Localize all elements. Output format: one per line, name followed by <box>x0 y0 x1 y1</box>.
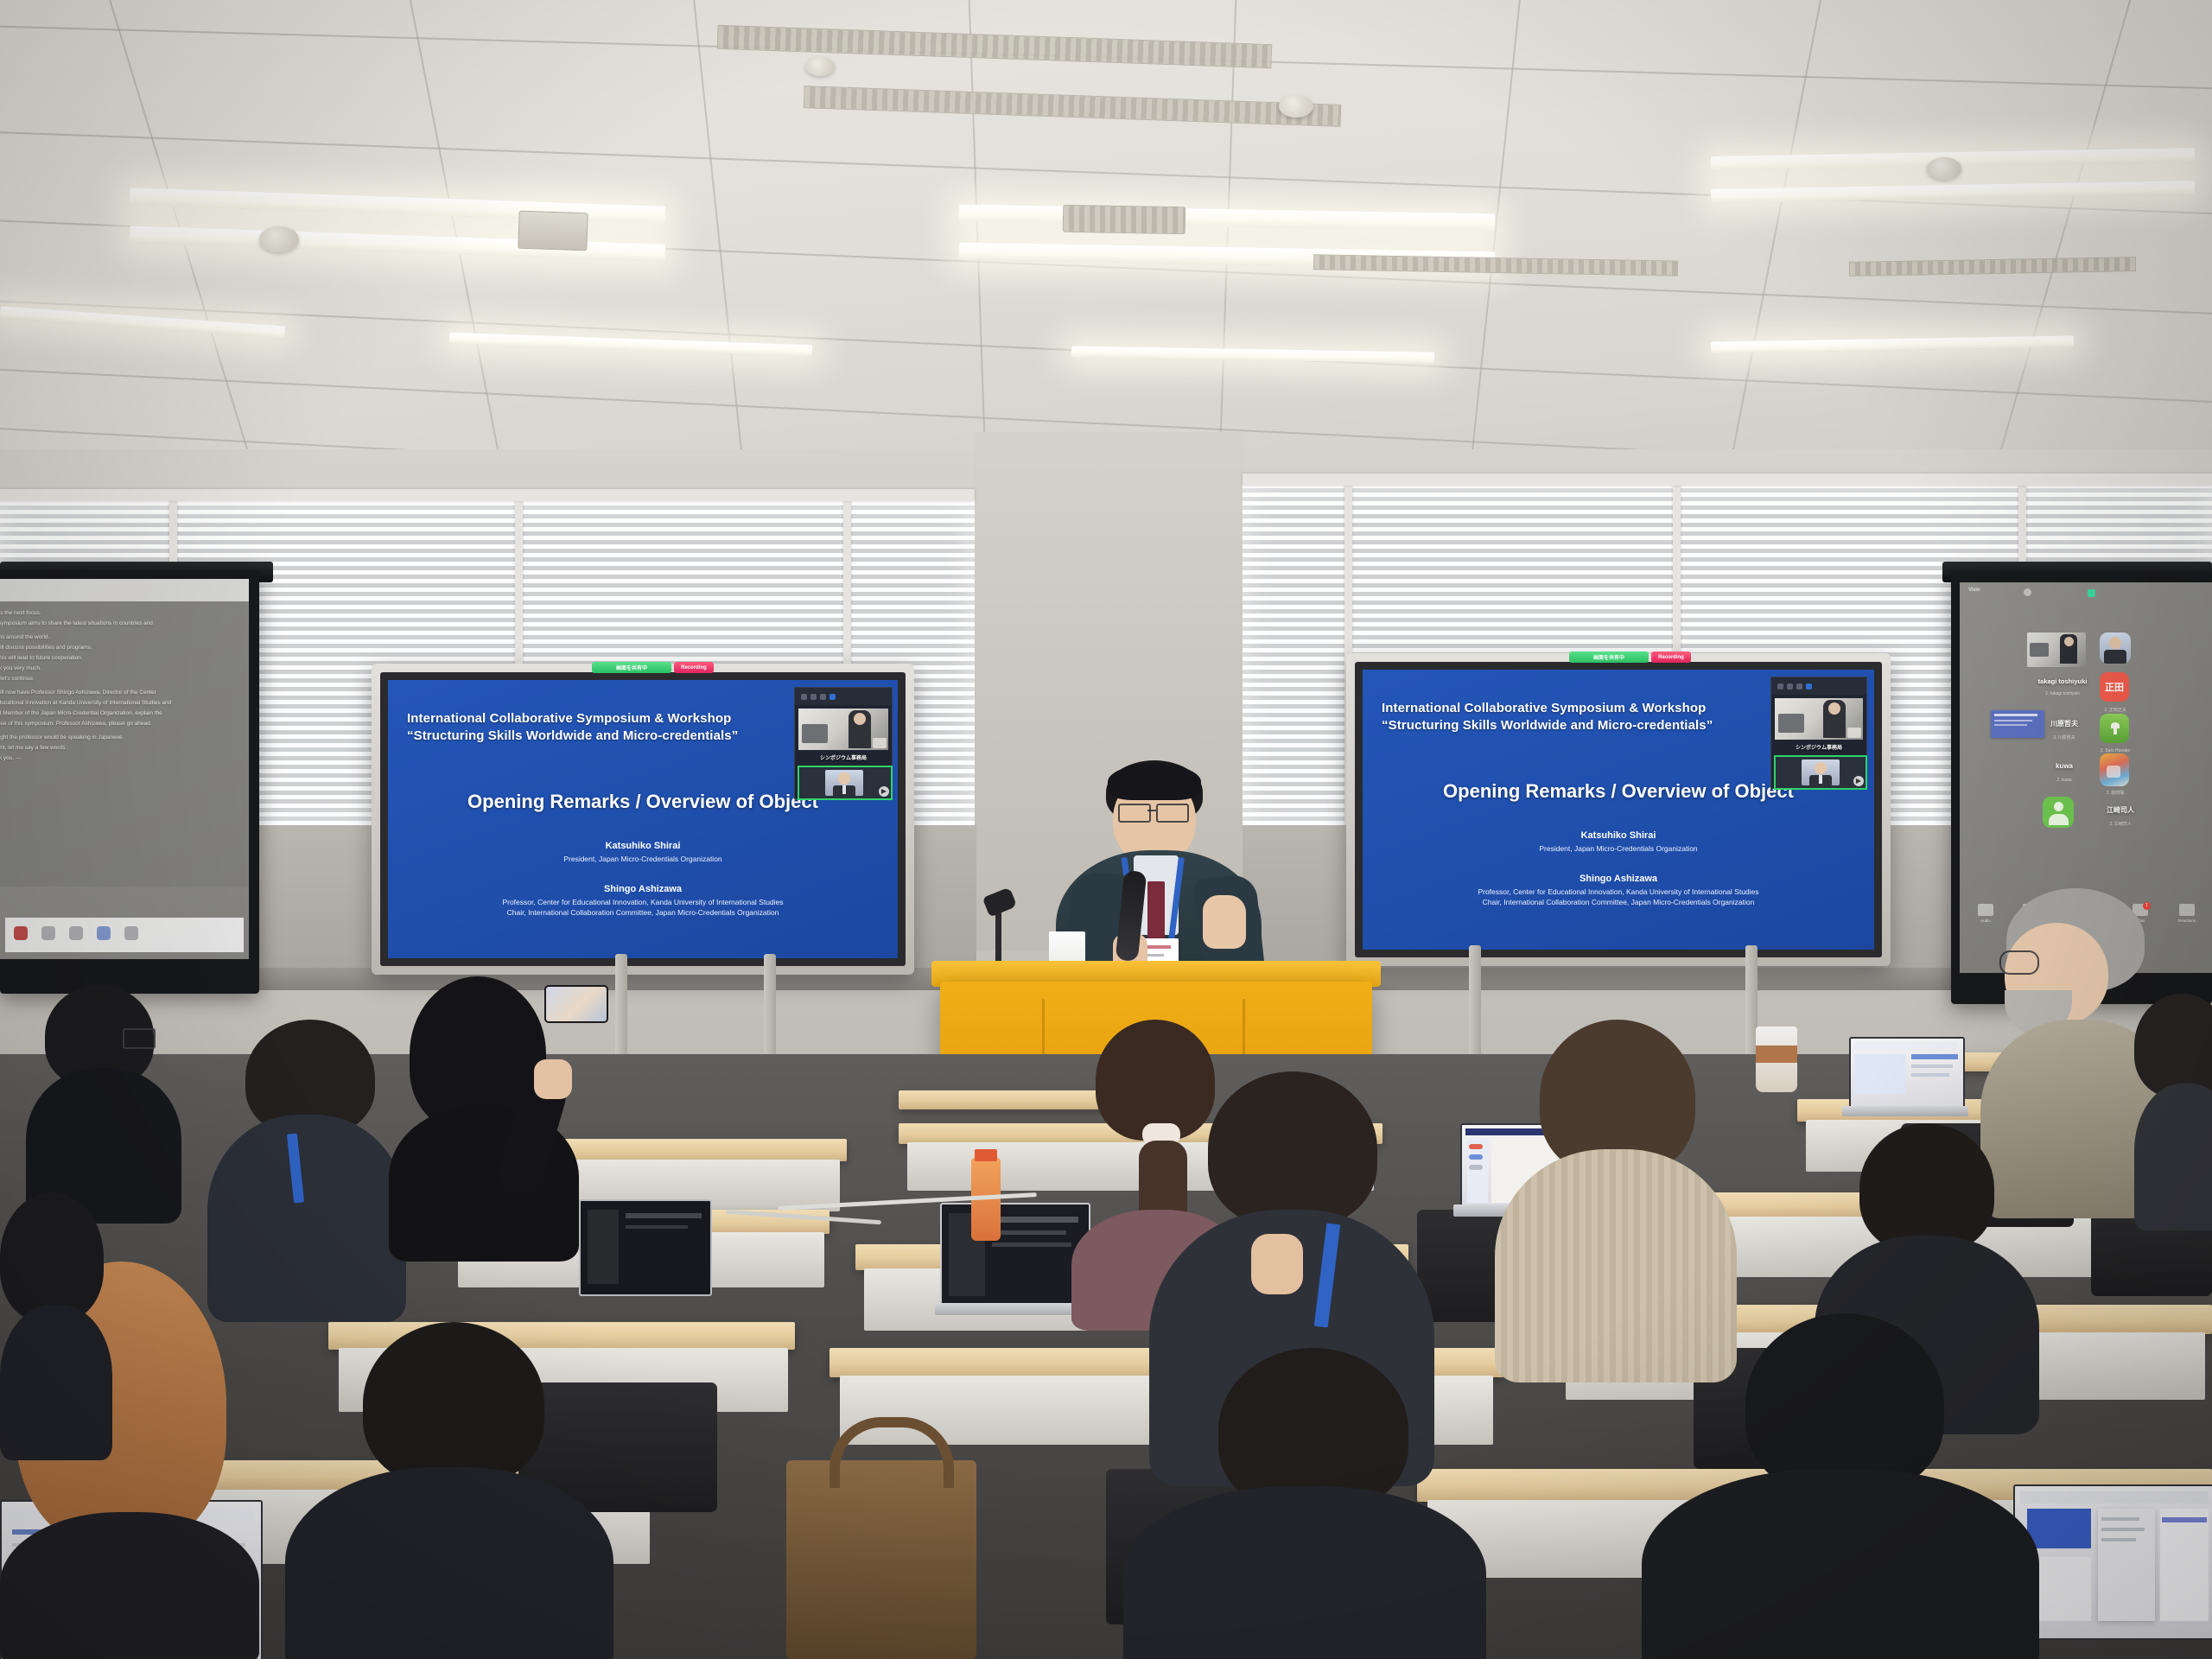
video-tile-room[interactable] <box>1775 698 1863 740</box>
hair <box>1859 1123 1994 1253</box>
torso <box>1123 1486 1486 1659</box>
audience-member <box>2134 994 2212 1218</box>
slide-speaker1-title: President, Japan Micro-Credentials Organ… <box>1363 844 1874 854</box>
eyeglasses-icon <box>123 1028 156 1049</box>
ceiling <box>0 0 2212 484</box>
participant-subname: 3. 江崎司人 <box>2089 821 2152 827</box>
smoke-detector <box>805 57 835 76</box>
ceiling-vent <box>717 25 1273 68</box>
audience-member <box>285 1322 613 1659</box>
participant-subname: 2. takagi toshiyuki <box>2024 691 2101 696</box>
slide-speaker2-title-1: Professor, Center for Educational Innova… <box>388 898 898 907</box>
glasses-bridge <box>1147 810 1156 811</box>
tote-bag <box>786 1460 976 1659</box>
slide-speaker2-name: Shingo Ashizawa <box>388 884 898 894</box>
torso <box>0 1512 259 1659</box>
slide-title-line1: International Collaborative Symposium & … <box>1382 701 1706 717</box>
video-panel-titlebar <box>795 688 892 705</box>
display-right: 画面を共有中 Recording International Collabora… <box>1346 653 1891 966</box>
video-tile-room[interactable] <box>798 709 888 750</box>
audience-member <box>1123 1348 1486 1659</box>
display-right-badges: 画面を共有中 Recording <box>1569 652 1691 663</box>
window-head-rail <box>1243 474 2212 486</box>
hair <box>2134 994 2212 1097</box>
participant-avatar-initials[interactable]: 正田 <box>2100 672 2129 702</box>
display-right-bezel: International Collaborative Symposium & … <box>1355 662 1882 957</box>
hand-on-chin <box>1251 1234 1303 1294</box>
audience-member <box>1642 1313 2039 1659</box>
torso <box>0 1305 112 1460</box>
speaker-headshot <box>825 770 863 796</box>
slide-title-line1: International Collaborative Symposium & … <box>407 711 731 728</box>
participant-avatar-photo[interactable] <box>2100 632 2131 664</box>
laptop-screen[interactable] <box>2013 1484 2212 1640</box>
laptop-screen[interactable] <box>1849 1037 1965 1111</box>
caption-line: regions around the world. <box>0 634 249 640</box>
hand <box>534 1059 572 1099</box>
bottle-cap <box>975 1149 997 1161</box>
next-page-icon[interactable]: ▶ <box>1853 776 1864 786</box>
phone-screen <box>546 987 607 1021</box>
ceiling-projector <box>518 211 588 251</box>
caption-line: for Educational Innovation at Kanda Univ… <box>0 700 249 706</box>
slide-speaker1-name: Katsuhiko Shirai <box>388 841 898 851</box>
participant-avatar-art[interactable] <box>2100 753 2129 786</box>
display-left: 画面を共有中 Recording International Collabora… <box>372 664 914 975</box>
participant-video-tile[interactable] <box>2027 632 2086 667</box>
participant-name: kuwa <box>2027 762 2101 770</box>
slide-title-line2: “Structuring Skills Worldwide and Micro-… <box>407 728 738 745</box>
reaction-icon <box>2179 904 2195 916</box>
zoom-record-indicator <box>2088 589 2095 597</box>
floating-video-panel-right[interactable]: シンポジウム事務局 ▶ <box>1770 677 1867 789</box>
presenter-tie <box>1147 881 1165 942</box>
close-icon[interactable] <box>829 694 836 700</box>
participant-name: takagi toshiyuki <box>2024 677 2101 685</box>
caption-line: Thank you very much. <box>0 665 249 671</box>
hair <box>1208 1071 1377 1227</box>
projection-screen-left: …ity is the next focus.This symposium ai… <box>0 570 259 994</box>
minimize-icon[interactable] <box>801 694 807 700</box>
participant-subname: 2. kuwa <box>2027 778 2101 783</box>
avatar-initials-text: 正田 <box>2105 680 2124 694</box>
caption-line: Thank you. — <box>0 755 249 761</box>
tablet-screen[interactable] <box>579 1199 712 1296</box>
caption-line: purpose of this symposium. Professor Ash… <box>0 721 249 727</box>
video-tile-active-speaker[interactable]: ▶ <box>1774 755 1867 790</box>
toolbar-icon[interactable] <box>97 926 111 940</box>
toolbar-icon[interactable] <box>69 926 83 940</box>
torso <box>2134 1084 2212 1230</box>
slide-speaker2-title-2: Chair, International Collaboration Commi… <box>388 908 898 918</box>
presenter-glasses <box>1156 804 1189 823</box>
torso <box>1642 1469 2039 1659</box>
maximize-icon[interactable] <box>1787 683 1793 690</box>
audience-member <box>26 985 181 1210</box>
torso <box>285 1467 613 1659</box>
caption-line: …ity is the next focus. <box>0 610 249 616</box>
video-tile-active-speaker[interactable]: ▶ <box>798 766 893 800</box>
laptop-base <box>1842 1106 1968 1116</box>
zoom-toolbar-label: Reactions <box>2178 918 2196 923</box>
zoom-view-label: View <box>1968 588 1980 593</box>
ceiling-speaker <box>259 226 299 252</box>
slide-speaker1-name: Katsuhiko Shirai <box>1363 830 1874 841</box>
presenter-hand-gesture <box>1203 895 1246 949</box>
projection-titlebar-left <box>0 579 249 601</box>
floating-video-panel-left[interactable]: シンポジウム事務局 ▶ <box>794 687 893 799</box>
toolbar-icon[interactable] <box>41 926 55 940</box>
recording-badge: Recording <box>1651 652 1691 663</box>
caption-line: And this will lead to future cooperation… <box>0 655 249 661</box>
display-left-bezel: International Collaborative Symposium & … <box>380 672 906 966</box>
caption-line: We will now have Professor Shingo Ashiza… <box>0 690 249 696</box>
participant-avatar-generic[interactable] <box>2043 797 2074 828</box>
participant-avatar-nature[interactable] <box>2100 714 2129 743</box>
maximize-icon[interactable] <box>810 694 817 700</box>
video-tile-room-label: シンポジウム事務局 <box>795 753 892 761</box>
next-page-icon[interactable]: ▶ <box>879 786 889 797</box>
participant-subname: 2. 正田正夫 <box>2089 707 2141 713</box>
participant-subname: 3. 川原哲夫 <box>2027 734 2101 741</box>
projection-surface-left: …ity is the next focus.This symposium ai… <box>0 579 249 959</box>
slide-title-line2: “Structuring Skills Worldwide and Micro-… <box>1382 718 1713 734</box>
smartphone[interactable] <box>544 985 608 1023</box>
zoom-security-icon[interactable] <box>2024 588 2031 596</box>
participant-name: 川原哲夫 <box>2027 719 2101 728</box>
hair <box>1745 1313 1944 1495</box>
slide-right: International Collaborative Symposium & … <box>1363 670 1874 950</box>
ceiling-vent <box>1313 254 1678 276</box>
screen-share-badge: 画面を共有中 <box>592 662 671 673</box>
eyeglasses-icon <box>1999 950 2039 975</box>
ceiling-light <box>1711 335 2074 353</box>
slide-left: International Collaborative Symposium & … <box>388 680 898 958</box>
caption-lines-left: …ity is the next focus.This symposium ai… <box>0 610 249 766</box>
restore-icon[interactable] <box>820 694 826 700</box>
restore-icon[interactable] <box>1796 683 1802 690</box>
caption-line: We will discuss possibilities and progra… <box>0 645 249 651</box>
tablet-screen[interactable] <box>940 1203 1090 1308</box>
minimize-icon[interactable] <box>1777 683 1783 690</box>
ceiling-vent <box>804 86 1342 127</box>
caption-line: This symposium aims to share the latest … <box>0 620 249 626</box>
window-head-rail <box>0 489 975 501</box>
presenter-glasses <box>1118 804 1151 823</box>
audience-member <box>0 1192 112 1452</box>
ceiling-vent <box>1063 205 1186 234</box>
speaker-headshot <box>1802 760 1840 785</box>
presenter-hair-top <box>1108 764 1201 800</box>
close-icon[interactable] <box>1806 683 1812 690</box>
recording-badge: Recording <box>674 662 714 673</box>
ceiling-speaker <box>1279 95 1313 118</box>
slide-speaker2-title-1: Professor, Center for Educational Innova… <box>1363 887 1874 897</box>
zoom-topbar <box>1967 588 2205 601</box>
ceiling-vent <box>1849 257 2136 276</box>
slide-speaker2-title-2: Chair, International Collaboration Commi… <box>1363 898 1874 907</box>
toolbar-icon[interactable] <box>14 926 28 940</box>
photo-scene: …ity is the next focus.This symposium ai… <box>0 0 2212 1659</box>
participant-subname: 2. 前田陽 <box>2089 790 2141 796</box>
ceiling-light <box>1071 346 1434 363</box>
hair <box>0 1192 104 1322</box>
ceiling-speaker <box>1927 157 1961 180</box>
participant-name: 江崎司人 <box>2089 805 2152 815</box>
slide-speaker2-name: Shingo Ashizawa <box>1363 874 1874 884</box>
caption-line: Board Member of the Japan Micro-Credenti… <box>0 710 249 716</box>
screen-share-badge: 画面を共有中 <box>1569 652 1649 663</box>
caption-line: I thought the professor would be speakin… <box>0 734 249 741</box>
slide-speaker1-title: President, Japan Micro-Credentials Organ… <box>388 855 898 864</box>
video-panel-titlebar <box>1771 677 1866 695</box>
caption-line: Now, let's continue. <box>0 676 249 682</box>
coffee-cup <box>1756 1027 1797 1092</box>
display-left-badges: 画面を共有中 Recording <box>592 662 714 673</box>
video-tile-room-label: シンポジウム事務局 <box>1771 743 1866 751</box>
hair <box>363 1322 544 1486</box>
toolbar-icon[interactable] <box>124 926 138 940</box>
caption-line: All right, let me say a few words. <box>0 745 249 751</box>
